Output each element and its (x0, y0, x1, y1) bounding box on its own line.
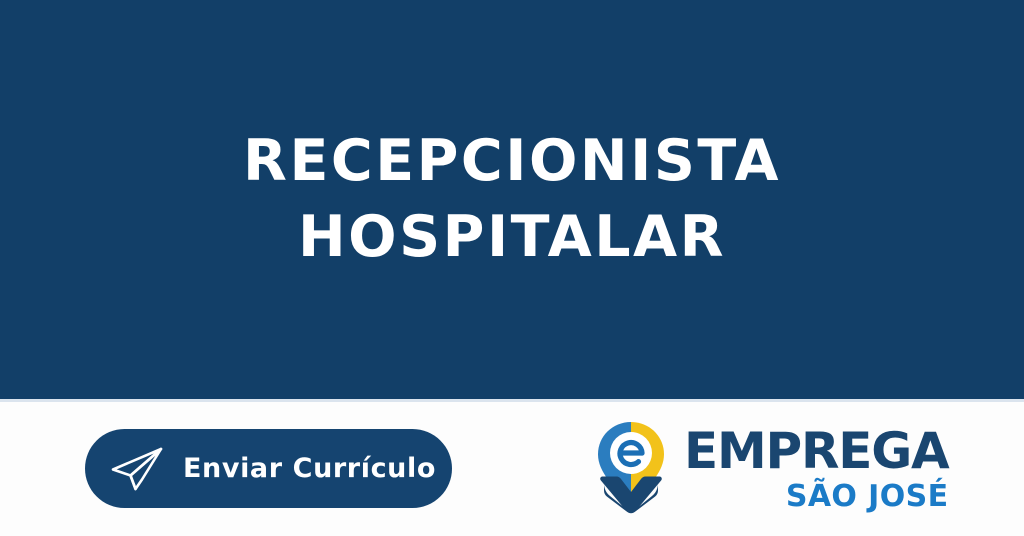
brand-tagline: SÃO JOSÉ (786, 482, 949, 512)
brand-logo[interactable]: EMPREGA SÃO JOSÉ (592, 418, 922, 518)
job-vacancy-card: RECEPCIONISTA HOSPITALAR Enviar Currícul… (0, 0, 1024, 536)
paper-plane-icon (109, 446, 165, 492)
map-pin-icon (592, 420, 670, 516)
page-title-line-1: RECEPCIONISTA (102, 124, 922, 200)
brand-name: EMPREGA (684, 426, 949, 476)
hero-banner: RECEPCIONISTA HOSPITALAR (0, 0, 1024, 399)
page-title-line-2: HOSPITALAR (102, 200, 922, 276)
brand-wordmark: EMPREGA SÃO JOSÉ (684, 424, 949, 512)
send-resume-label: Enviar Currículo (183, 455, 436, 482)
page-title: RECEPCIONISTA HOSPITALAR (102, 124, 922, 276)
send-resume-button[interactable]: Enviar Currículo (85, 429, 452, 508)
